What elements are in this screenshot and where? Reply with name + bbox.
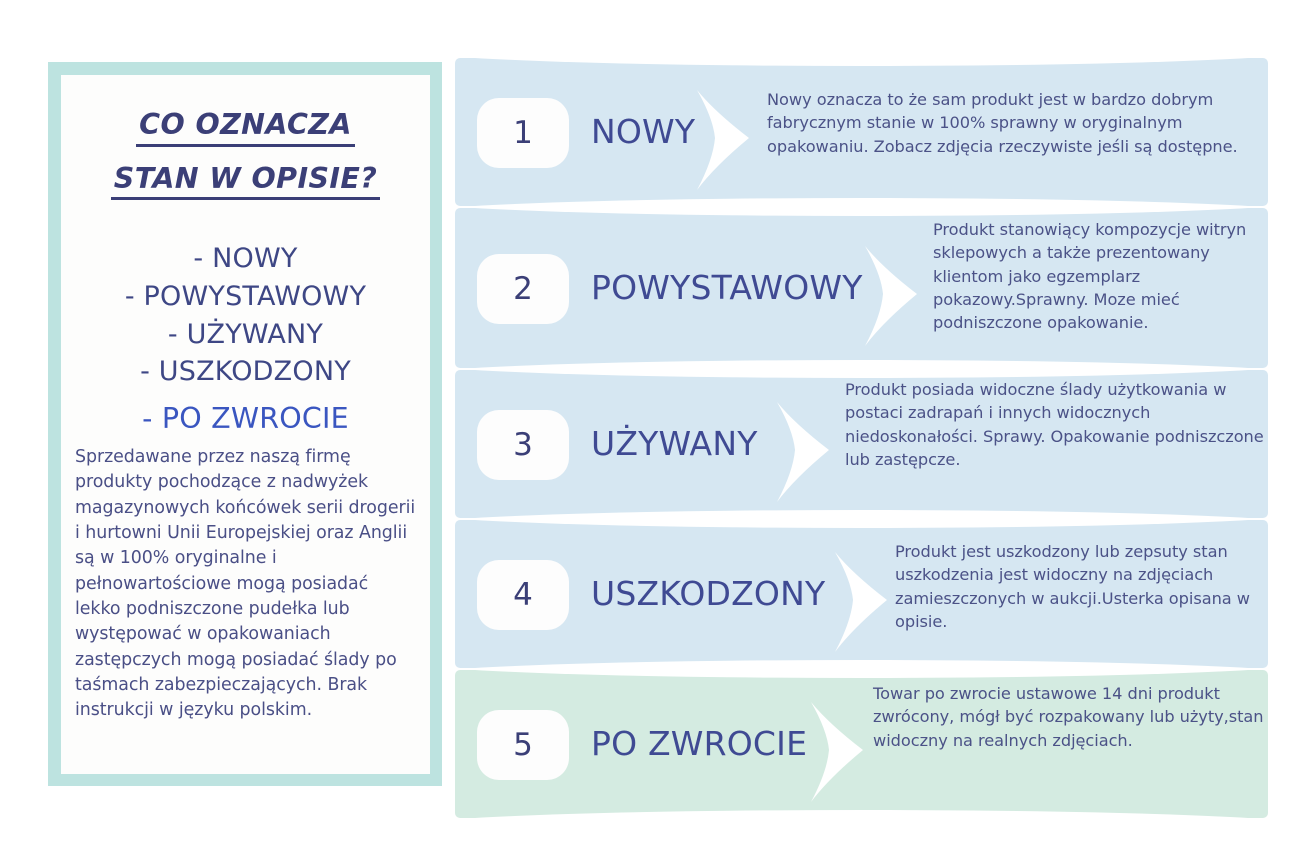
condition-row-3-number-badge: 3 xyxy=(477,410,569,480)
state-list-item-nowy: - NOWY xyxy=(75,240,416,278)
state-list-item-po-zwrocie: - PO ZWROCIE xyxy=(75,391,416,439)
condition-row-3-label: UŻYWANY xyxy=(591,427,758,460)
left-summary-card-inner: CO OZNACZA STAN W OPISIE? - NOWY - POWYS… xyxy=(61,75,430,774)
condition-row-1-number: 1 xyxy=(513,118,533,149)
company-description-paragraph: Sprzedawane przez naszą firmę produkty p… xyxy=(75,445,416,723)
chevron-arrow-icon xyxy=(861,244,935,348)
condition-row-2-label: POWYSTAWOWY xyxy=(591,271,863,304)
chevron-arrow-icon xyxy=(831,550,905,654)
state-list: - NOWY - POWYSTAWOWY - UŻYWANY - USZKODZ… xyxy=(75,240,416,439)
condition-row-2-description: Produkt stanowiący kompozycje witryn skl… xyxy=(933,218,1266,335)
condition-row-5-description: Towar po zwrocie ustawowe 14 dni produkt… xyxy=(873,682,1267,752)
condition-row-1-number-badge: 1 xyxy=(477,98,569,168)
condition-row-2: 2 POWYSTAWOWY Produkt stanowiący kompozy… xyxy=(455,208,1268,368)
condition-row-4-description: Produkt jest uszkodzony lub zepsuty stan… xyxy=(895,540,1267,633)
condition-row-3-number: 3 xyxy=(513,430,533,461)
state-list-item-uzywany: - UŻYWANY xyxy=(75,316,416,354)
chevron-arrow-icon xyxy=(693,88,767,192)
condition-row-5-number: 5 xyxy=(513,730,533,761)
condition-row-4: 4 USZKODZONY Produkt jest uszkodzony lub… xyxy=(455,520,1268,668)
chevron-arrow-icon xyxy=(807,700,881,804)
left-summary-card: CO OZNACZA STAN W OPISIE? - NOWY - POWYS… xyxy=(48,62,442,786)
state-list-item-powystawowy: - POWYSTAWOWY xyxy=(75,278,416,316)
condition-row-5-number-badge: 5 xyxy=(477,710,569,780)
condition-row-4-label: USZKODZONY xyxy=(591,577,825,610)
condition-row-2-number-badge: 2 xyxy=(477,254,569,324)
condition-row-4-number: 4 xyxy=(513,580,533,611)
page-title-line-1-text: CO OZNACZA xyxy=(136,111,355,147)
condition-row-1: 1 NOWY Nowy oznacza to że sam produkt je… xyxy=(455,58,1268,206)
condition-row-1-description: Nowy oznacza to że sam produkt jest w ba… xyxy=(767,88,1265,158)
condition-rows-list: 1 NOWY Nowy oznacza to że sam produkt je… xyxy=(455,58,1275,818)
condition-row-3: 3 UŻYWANY Produkt posiada widoczne ślady… xyxy=(455,370,1268,518)
condition-row-2-number: 2 xyxy=(513,274,533,305)
chevron-arrow-icon xyxy=(773,400,847,504)
condition-row-5-label: PO ZWROCIE xyxy=(591,727,807,760)
condition-row-1-label: NOWY xyxy=(591,115,695,148)
condition-row-5: 5 PO ZWROCIE Towar po zwrocie ustawowe 1… xyxy=(455,670,1268,818)
condition-row-3-description: Produkt posiada widoczne ślady użytkowan… xyxy=(845,378,1267,471)
infographic-canvas: CO OZNACZA STAN W OPISIE? - NOWY - POWYS… xyxy=(0,0,1316,852)
page-title-line-2: STAN W OPISIE? xyxy=(75,165,416,201)
page-title-line-1: CO OZNACZA xyxy=(75,111,416,147)
page-title-line-2-text: STAN W OPISIE? xyxy=(111,165,380,201)
state-list-item-uszkodzony: - USZKODZONY xyxy=(75,353,416,391)
condition-row-4-number-badge: 4 xyxy=(477,560,569,630)
